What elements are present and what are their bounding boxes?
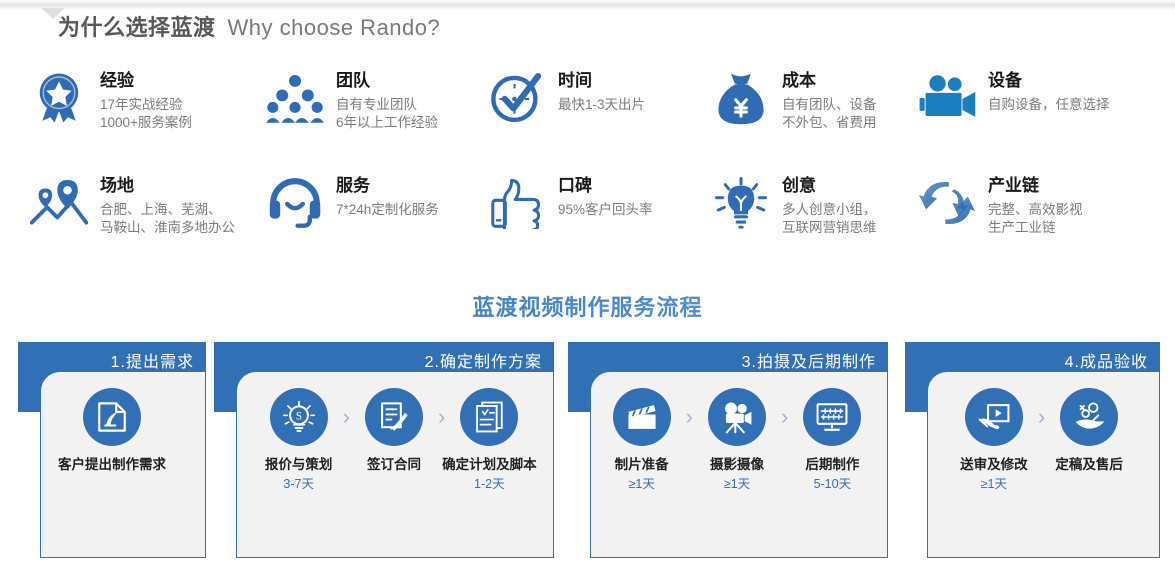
process-step-duration: 1-2天 <box>474 476 505 492</box>
feature-item-time: 时间 最快1-3天出片 <box>486 68 710 173</box>
process-card-heading: 2.确定制作方案 <box>425 348 542 372</box>
feature-text: 场地 合肥、上海、芜湖、 马鞍山、淮南多地办公 <box>90 173 235 237</box>
process-step-duration: 5-10天 <box>814 476 852 492</box>
feature-row-1: 经验 17年实战经验 1000+服务案例 <box>28 68 1158 173</box>
process-step[interactable]: 后期制作 5-10天 <box>782 388 882 492</box>
process-card-2[interactable]: 2.确定制作方案 S <box>214 342 554 558</box>
process-step-label: 摄影摄像 <box>710 456 764 474</box>
process-step-duration: ≥1天 <box>724 476 750 492</box>
process-step-label: 确定计划及脚本 <box>442 456 537 474</box>
feature-desc: 自有专业团队 6年以上工作经验 <box>336 96 438 132</box>
feature-desc: 自有团队、设备 不外包、省费用 <box>782 96 877 132</box>
feature-desc: 多人创意小组， 互联网营销思维 <box>782 201 877 237</box>
feature-text: 经验 17年实战经验 1000+服务案例 <box>90 68 192 132</box>
feature-desc: 最快1-3天出片 <box>558 96 645 114</box>
feature-title: 成本 <box>782 70 877 92</box>
feature-title: 团队 <box>336 70 438 92</box>
page-title: 为什么选择蓝渡Why choose Rando? <box>58 10 440 42</box>
team-people-icon <box>264 68 326 128</box>
recycle-arrows-icon <box>916 173 978 233</box>
clock-check-icon <box>486 68 548 128</box>
process-step-label: 报价与策划 <box>265 456 333 474</box>
thumbs-up-icon <box>486 173 548 233</box>
feature-title: 产业链 <box>988 175 1083 197</box>
feature-desc: 17年实战经验 1000+服务案例 <box>100 96 192 132</box>
feature-title: 口碑 <box>558 175 653 197</box>
feature-item-industry-chain: 产业链 完整、高效影视 生产工业链 <box>916 173 1156 263</box>
page-title-cn: 为什么选择蓝渡 <box>58 15 216 40</box>
feature-text: 口碑 95%客户回头率 <box>548 173 653 219</box>
feature-text: 团队 自有专业团队 6年以上工作经验 <box>326 68 438 132</box>
top-decoration-bar <box>0 0 1175 9</box>
process-step[interactable]: 摄影摄像 ≥1天 <box>687 388 787 492</box>
video-camera-icon <box>916 68 978 128</box>
handshake-screen-icon <box>965 388 1023 446</box>
feature-title: 创意 <box>782 175 877 197</box>
process-step[interactable]: S 报价与策划 3-7天 <box>249 388 349 492</box>
process-step-duration: ≥1天 <box>981 476 1007 492</box>
feature-text: 设备 自购设备，任意选择 <box>978 68 1110 114</box>
feature-text: 创意 多人创意小组， 互联网营销思维 <box>772 173 877 237</box>
process-card-4[interactable]: 4.成品验收 送审及修改 ≥1天 › <box>905 342 1160 558</box>
feature-text: 产业链 完整、高效影视 生产工业链 <box>978 173 1083 237</box>
process-step-label: 后期制作 <box>805 456 859 474</box>
feature-desc: 自购设备，任意选择 <box>988 96 1110 114</box>
process-card-heading: 4.成品验收 <box>1065 348 1148 372</box>
feature-item-service: 服务 7*24h定制化服务 <box>264 173 486 263</box>
monitor-edit-icon <box>803 388 861 446</box>
lightbulb-idea-icon <box>710 173 772 233</box>
process-steps: 客户提出制作需求 <box>18 388 206 476</box>
feature-desc: 95%客户回头率 <box>558 201 653 219</box>
map-location-pin-icon <box>28 173 90 233</box>
feature-title: 服务 <box>336 175 439 197</box>
svg-text:S: S <box>296 411 302 423</box>
feature-title: 时间 <box>558 70 645 92</box>
movie-camera-icon <box>708 388 766 446</box>
money-bag-yen-icon <box>710 68 772 128</box>
document-pen-icon <box>83 388 141 446</box>
feature-row-2: 场地 合肥、上海、芜湖、 马鞍山、淮南多地办公 服务 7*24h定制化服务 <box>28 173 1158 263</box>
feature-desc: 合肥、上海、芜湖、 马鞍山、淮南多地办公 <box>100 201 235 237</box>
process-card-1[interactable]: 1.提出需求 客户提出制作需求 <box>18 342 206 558</box>
process-step-label: 客户提出制作需求 <box>58 456 166 474</box>
process-card-3[interactable]: 3.拍摄及后期制作 制片准备 ≥1天 › <box>568 342 888 558</box>
lightbulb-dollar-icon: S <box>270 388 328 446</box>
headset-support-icon <box>264 173 326 233</box>
process-step[interactable]: 签订合同 <box>344 388 444 476</box>
process-step-label: 送审及修改 <box>960 456 1028 474</box>
process-flow-cards: 1.提出需求 客户提出制作需求 2.确定制作方案 <box>18 342 1160 560</box>
process-step-label: 制片准备 <box>615 456 669 474</box>
contract-sign-icon <box>365 388 423 446</box>
page-title-en: Why choose Rando? <box>228 15 441 40</box>
process-step[interactable]: 客户提出制作需求 <box>58 388 166 476</box>
process-step-duration: ≥1天 <box>629 476 655 492</box>
process-steps: 送审及修改 ≥1天 › 定稿及售后 <box>905 388 1160 492</box>
feature-grid: 经验 17年实战经验 1000+服务案例 <box>28 68 1158 263</box>
feature-desc: 完整、高效影视 生产工业链 <box>988 201 1083 237</box>
feature-title: 场地 <box>100 175 235 197</box>
feature-desc: 7*24h定制化服务 <box>336 201 439 219</box>
feature-item-experience: 经验 17年实战经验 1000+服务案例 <box>28 68 264 173</box>
feature-item-equipment: 设备 自购设备，任意选择 <box>916 68 1156 173</box>
process-step-label: 签订合同 <box>367 456 421 474</box>
process-step-duration: 3-7天 <box>283 476 314 492</box>
feature-title: 经验 <box>100 70 192 92</box>
hand-coins-icon <box>1060 388 1118 446</box>
process-card-heading: 1.提出需求 <box>111 348 194 372</box>
script-documents-icon <box>460 388 518 446</box>
process-card-heading: 3.拍摄及后期制作 <box>742 348 876 372</box>
feature-text: 成本 自有团队、设备 不外包、省费用 <box>772 68 877 132</box>
flow-section-title: 蓝渡视频制作服务流程 <box>0 290 1175 322</box>
process-step[interactable]: 定稿及售后 <box>1039 388 1139 476</box>
medal-star-icon <box>28 68 90 128</box>
feature-text: 服务 7*24h定制化服务 <box>326 173 439 219</box>
process-step[interactable]: 制片准备 ≥1天 <box>592 388 692 492</box>
feature-item-creativity: 创意 多人创意小组， 互联网营销思维 <box>710 173 916 263</box>
process-step[interactable]: 送审及修改 ≥1天 <box>944 388 1044 492</box>
feature-text: 时间 最快1-3天出片 <box>548 68 645 114</box>
feature-item-team: 团队 自有专业团队 6年以上工作经验 <box>264 68 486 173</box>
feature-item-reputation: 口碑 95%客户回头率 <box>486 173 710 263</box>
process-steps: 制片准备 ≥1天 › 摄影摄像 ≥1天 <box>568 388 888 492</box>
feature-item-venue: 场地 合肥、上海、芜湖、 马鞍山、淮南多地办公 <box>28 173 264 263</box>
feature-item-cost: 成本 自有团队、设备 不外包、省费用 <box>710 68 916 173</box>
process-step[interactable]: 确定计划及脚本 1-2天 <box>439 388 539 492</box>
feature-title: 设备 <box>988 70 1110 92</box>
process-steps: S 报价与策划 3-7天 › <box>214 388 554 492</box>
clapperboard-icon <box>613 388 671 446</box>
process-step-label: 定稿及售后 <box>1055 456 1123 474</box>
